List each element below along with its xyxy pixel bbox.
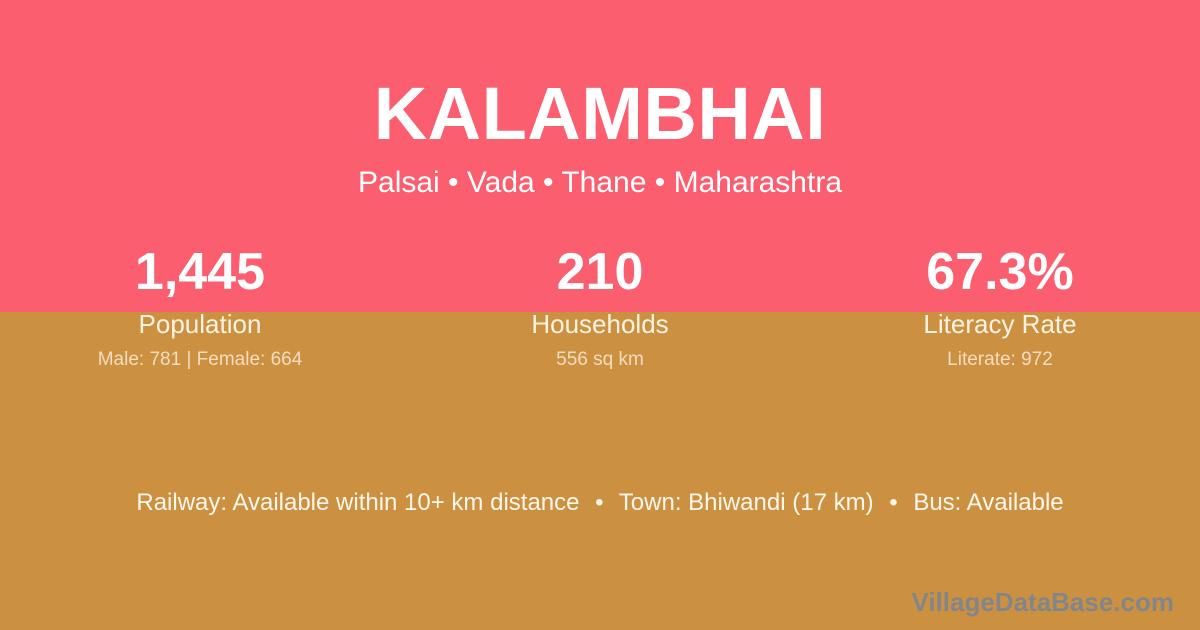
stat-label: Literacy Rate <box>800 309 1200 340</box>
stat-population: 1,445 Population Male: 781 | Female: 664 <box>0 243 400 372</box>
stat-subtext: Literate: 972 <box>800 349 1200 372</box>
site-brand: VillageDataBase.com <box>911 587 1174 618</box>
village-info-card: KALAMBHAI Palsai • Vada • Thane • Mahara… <box>0 0 1200 630</box>
stat-value: 1,445 <box>0 243 400 303</box>
stats-row: 1,445 Population Male: 781 | Female: 664… <box>0 243 1200 372</box>
stat-value: 210 <box>400 243 800 303</box>
stat-label: Households <box>400 309 800 340</box>
stat-subtext: Male: 781 | Female: 664 <box>0 349 400 372</box>
stat-subtext: 556 sq km <box>400 349 800 372</box>
page-title: KALAMBHAI <box>0 76 1200 151</box>
amenity-bus: Bus: Available <box>913 489 1063 516</box>
stat-literacy-rate: 67.3% Literacy Rate Literate: 972 <box>800 243 1200 372</box>
stat-households: 210 Households 556 sq km <box>400 243 800 372</box>
amenity-separator: • <box>586 487 612 518</box>
card-header: KALAMBHAI Palsai • Vada • Thane • Mahara… <box>0 76 1200 201</box>
amenity-separator: • <box>880 487 906 518</box>
amenity-railway: Railway: Available within 10+ km distanc… <box>136 489 579 516</box>
card-content: KALAMBHAI Palsai • Vada • Thane • Mahara… <box>0 0 1200 630</box>
stat-value: 67.3% <box>800 243 1200 303</box>
amenities-line: Railway: Available within 10+ km distanc… <box>0 487 1200 518</box>
amenity-town: Town: Bhiwandi (17 km) <box>619 489 874 516</box>
stat-label: Population <box>0 309 400 340</box>
breadcrumb: Palsai • Vada • Thane • Maharashtra <box>0 165 1200 201</box>
